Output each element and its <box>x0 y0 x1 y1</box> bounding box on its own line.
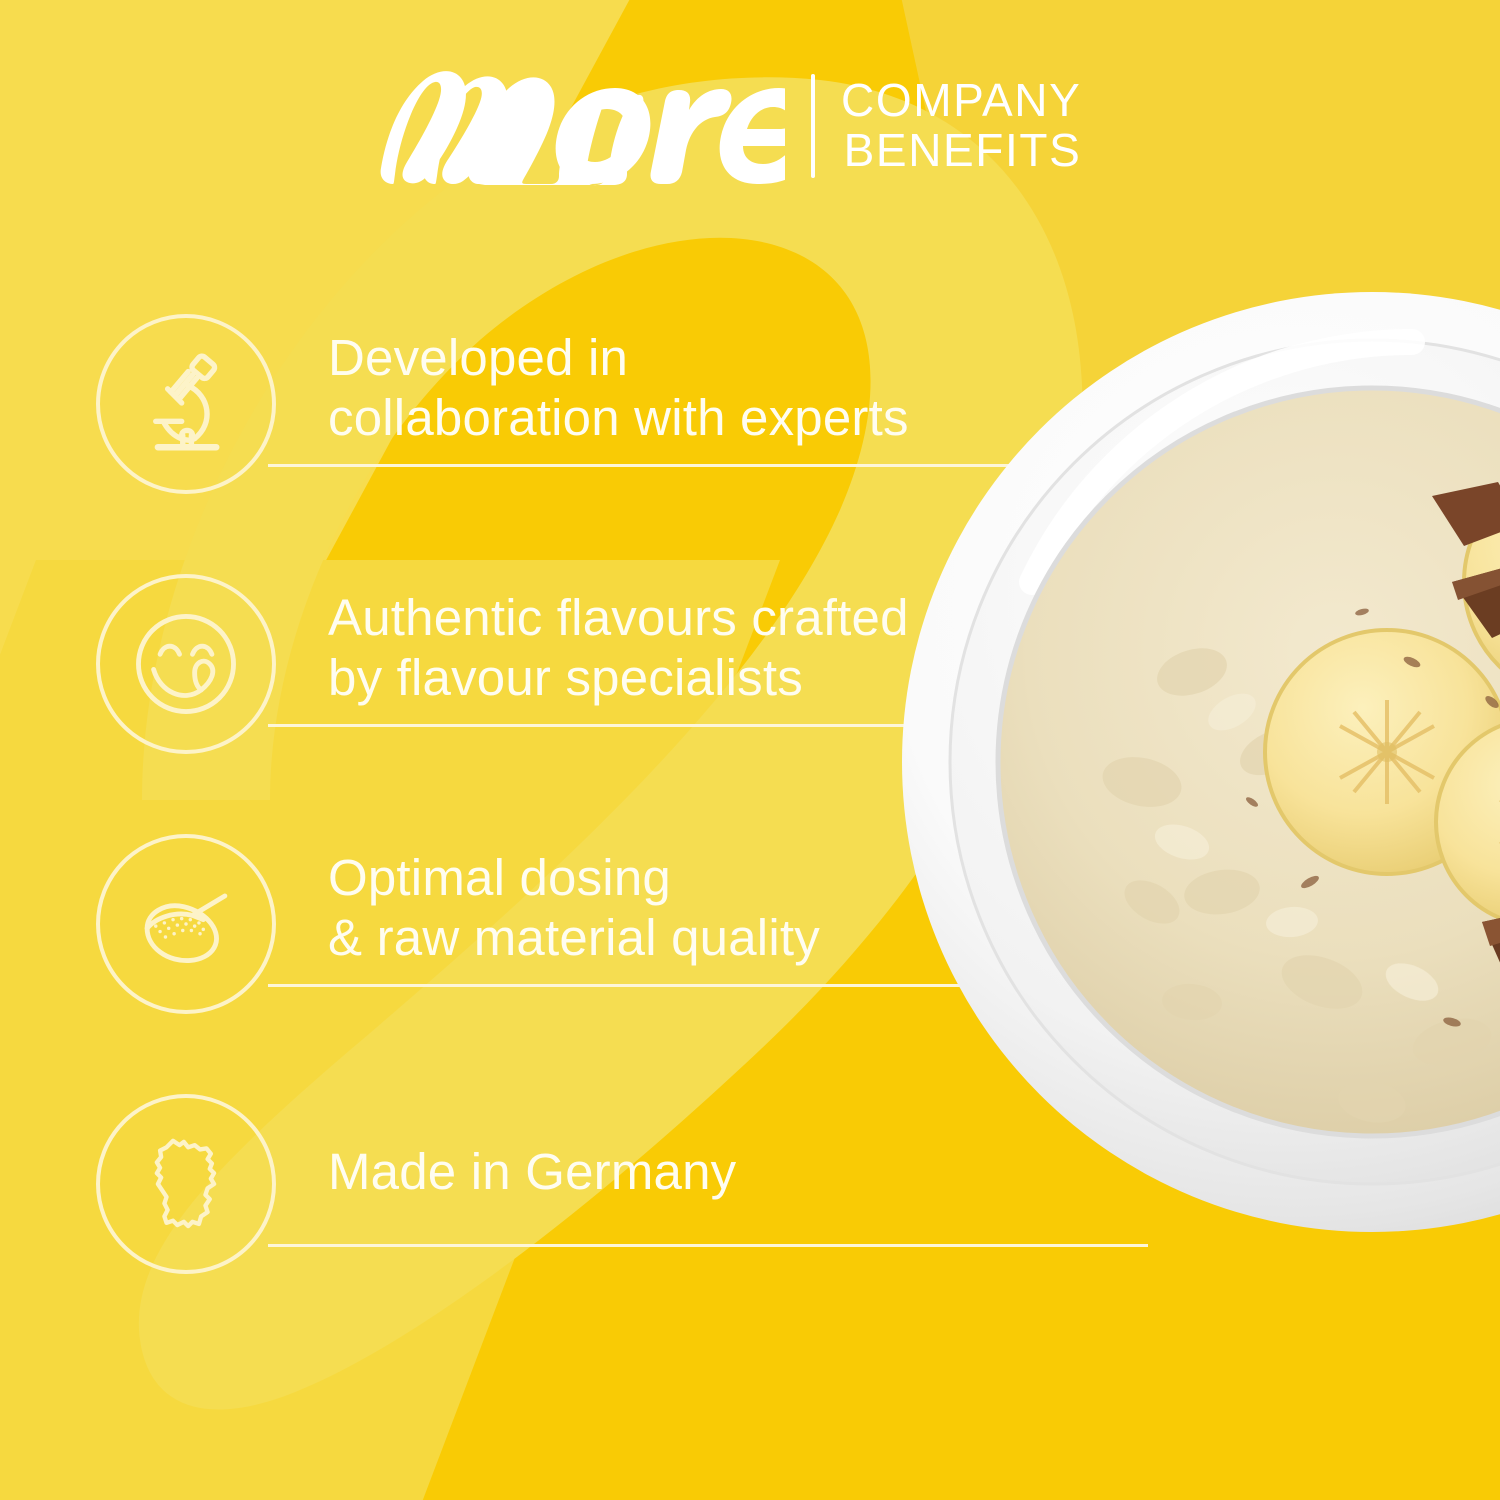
benefit-label-line2: collaboration with experts <box>328 388 1048 448</box>
benefit-label: Optimal dosing & raw material quality <box>328 848 1048 968</box>
benefit-label: Made in Germany <box>328 1142 1048 1202</box>
benefit-label: Developed in collaboration with experts <box>328 328 1048 448</box>
microscope-icon <box>96 314 276 494</box>
benefit-item-developed-with-experts: Developed in collaboration with experts <box>0 300 1500 560</box>
benefit-label-line2: & raw material quality <box>328 908 1048 968</box>
logo-divider <box>811 74 815 178</box>
benefit-item-made-in-germany: Made in Germany <box>0 1080 1500 1340</box>
benefit-divider <box>268 464 1148 467</box>
germany-map-icon <box>96 1094 276 1274</box>
measuring-scoop-icon <box>96 834 276 1014</box>
benefit-item-optimal-dosing: Optimal dosing & raw material quality <box>0 820 1500 1080</box>
benefit-divider <box>268 724 1148 727</box>
benefits-list: Developed in collaboration with experts … <box>0 300 1500 1340</box>
benefit-divider <box>268 1244 1148 1247</box>
benefit-label-line1: Developed in <box>328 328 1048 388</box>
benefit-label-line1: Authentic flavours crafted <box>328 588 1048 648</box>
benefit-item-authentic-flavours: Authentic flavours crafted by flavour sp… <box>0 560 1500 820</box>
brand-subtitle: COMPANY BENEFITS <box>841 76 1081 175</box>
brand-header: COMPANY BENEFITS <box>375 66 1081 186</box>
benefit-label-line2: by flavour specialists <box>328 648 1048 708</box>
more-script-wordmark-icon <box>375 66 785 186</box>
brand-subtitle-line1: COMPANY <box>841 76 1081 126</box>
company-benefits-banner: COMPANY BENEFITS <box>0 0 1500 1500</box>
smiley-tongue-icon <box>96 574 276 754</box>
benefit-label: Authentic flavours crafted by flavour sp… <box>328 588 1048 708</box>
benefit-label-line1: Optimal dosing <box>328 848 1048 908</box>
benefit-label-line1: Made in Germany <box>328 1142 1048 1202</box>
benefit-divider <box>268 984 1148 987</box>
brand-subtitle-line2: BENEFITS <box>844 126 1082 176</box>
